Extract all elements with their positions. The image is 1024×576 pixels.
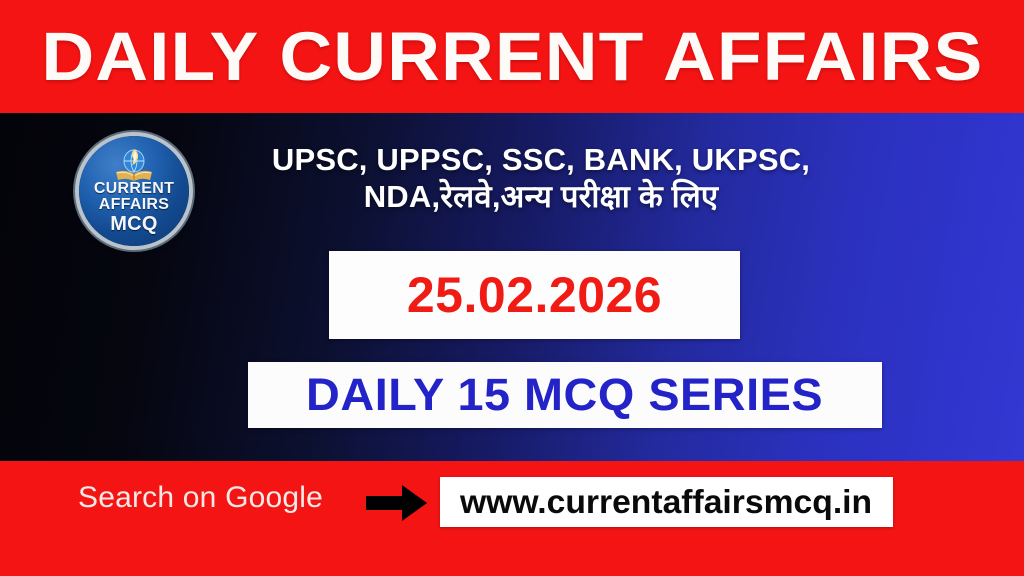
globe-flame-book-icon bbox=[108, 148, 160, 184]
website-url-text: www.currentaffairsmcq.in bbox=[460, 483, 872, 521]
page-title: DAILY CURRENT AFFAIRS bbox=[41, 22, 983, 91]
logo-line-mcq: MCQ bbox=[110, 214, 158, 234]
date-box: 25.02.2026 bbox=[329, 251, 740, 339]
exam-list: UPSC, UPPSC, SSC, BANK, UKPSC, NDA,रेलवे… bbox=[229, 142, 853, 215]
right-arrow-icon bbox=[366, 483, 428, 523]
search-prompt-label: Search on Google bbox=[78, 481, 323, 515]
website-url-box[interactable]: www.currentaffairsmcq.in bbox=[440, 477, 893, 527]
exam-line-secondary: NDA,रेलवे,अन्य परीक्षा के लिए bbox=[229, 179, 853, 216]
logo-line-current: CURRENT bbox=[94, 181, 174, 197]
series-label: DAILY 15 MCQ SERIES bbox=[306, 369, 823, 421]
brand-logo: CURRENT AFFAIRS MCQ bbox=[79, 136, 189, 246]
logo-line-affairs: AFFAIRS bbox=[99, 197, 170, 213]
poster-canvas: DAILY CURRENT AFFAIRS CURRENT AFFAIRS MC… bbox=[0, 0, 1024, 576]
series-box: DAILY 15 MCQ SERIES bbox=[248, 362, 882, 428]
exam-line-primary: UPSC, UPPSC, SSC, BANK, UKPSC, bbox=[229, 142, 853, 179]
date-text: 25.02.2026 bbox=[407, 266, 662, 324]
header-banner: DAILY CURRENT AFFAIRS bbox=[0, 0, 1024, 113]
